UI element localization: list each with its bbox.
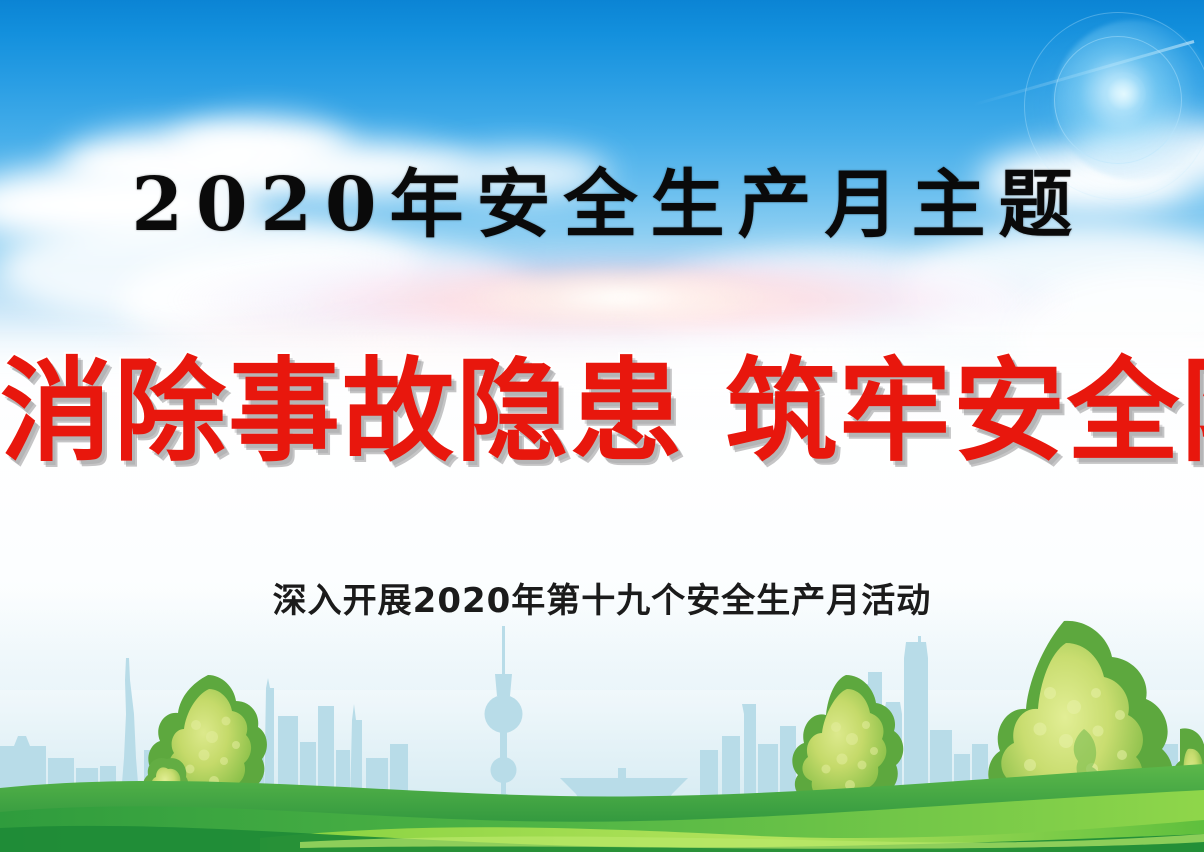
page-title: 2020年安全生产月主题 — [0, 168, 1204, 242]
safety-month-poster: 2020年安全生产月主题 消除事故隐患 筑牢安全防线 深入开展2020年第十九个… — [0, 0, 1204, 852]
grass-hills — [0, 762, 1204, 852]
subtitle-text: 深入开展2020年第十九个安全生产月活动 — [0, 573, 1204, 622]
main-slogan: 消除事故隐患 筑牢安全防线 — [0, 352, 1204, 473]
flare-hotspot-icon — [1102, 72, 1146, 116]
landscape-scene — [0, 592, 1204, 852]
